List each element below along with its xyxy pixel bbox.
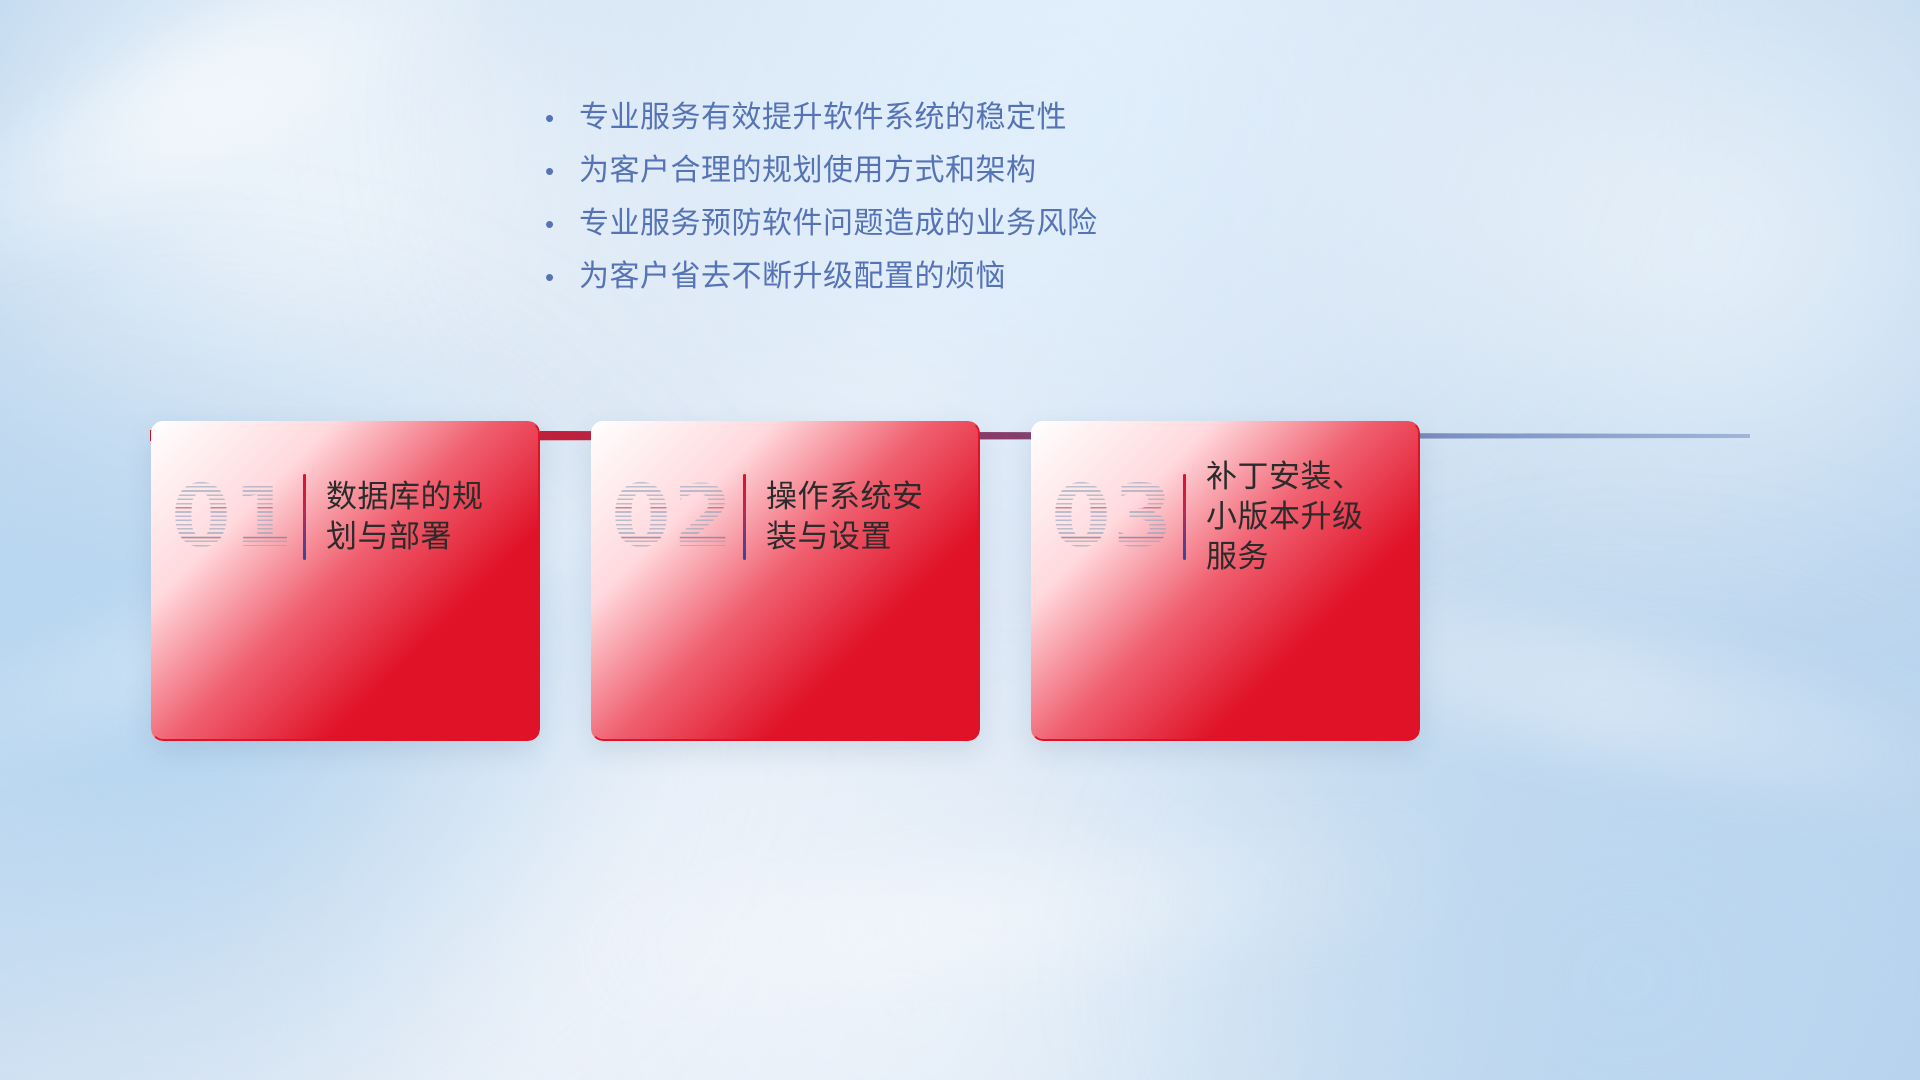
card-number-glyph-tint: 02: [613, 465, 733, 569]
list-item: • 为客户合理的规划使用方式和架构: [545, 145, 1445, 198]
list-item-label: 为客户合理的规划使用方式和架构: [579, 145, 1037, 189]
bullet-dot-icon: •: [545, 105, 579, 131]
card-number-glyph-tint: 01: [173, 465, 293, 569]
bullet-dot-icon: •: [545, 211, 579, 237]
service-card[interactable]: 03 03 补丁安装、小版本升级服务 评估版本升级及补丁安装的必要性，并提交实施…: [1031, 421, 1420, 741]
card-description: 操作系统的安装环境网络调查、安装标准及复核步骤、驱动程序的配置以及系统的设置等内…: [591, 579, 980, 698]
card-header: 03 03 补丁安装、小版本升级服务: [1031, 421, 1420, 579]
list-item-label: 专业服务有效提升软件系统的稳定性: [579, 92, 1067, 136]
benefits-bullet-list: • 专业服务有效提升软件系统的稳定性 • 为客户合理的规划使用方式和架构 • 专…: [545, 92, 1445, 304]
card-header: 01 01 数据库的规划与部署: [151, 421, 540, 579]
card-accent-bar: [303, 474, 306, 560]
card-number-watermark: 01 01: [173, 465, 293, 569]
bullet-dot-icon: •: [545, 158, 579, 184]
list-item-label: 专业服务预防软件问题造成的业务风险: [579, 198, 1098, 242]
service-card[interactable]: 01 01 数据库的规划与部署 协助客户规划数据库环境、数据库参数、数据库空间、…: [151, 421, 540, 741]
card-header: 02 02 操作系统安装与设置: [591, 421, 980, 579]
card-number-watermark: 03 03: [1053, 465, 1173, 569]
card-title: 数据库的规划与部署: [326, 477, 514, 558]
card-number-watermark: 02 02: [613, 465, 733, 569]
card-accent-bar: [743, 474, 746, 560]
list-item: • 专业服务预防软件问题造成的业务风险: [545, 198, 1445, 251]
card-title: 操作系统安装与设置: [766, 477, 954, 558]
card-description: 评估版本升级及补丁安装的必要性，并提交实施计划。: [1031, 579, 1420, 660]
service-card-list: 01 01 数据库的规划与部署 协助客户规划数据库环境、数据库参数、数据库空间、…: [151, 421, 1420, 741]
list-item-label: 为客户省去不断升级配置的烦恼: [579, 251, 1006, 295]
list-item: • 专业服务有效提升软件系统的稳定性: [545, 92, 1445, 145]
card-number-glyph-tint: 03: [1053, 465, 1173, 569]
service-card[interactable]: 02 02 操作系统安装与设置 操作系统的安装环境网络调查、安装标准及复核步骤、…: [591, 421, 980, 741]
card-description: 协助客户规划数据库环境、数据库参数、数据库空间、数据库对象等部署落地。: [151, 579, 540, 698]
list-item: • 为客户省去不断升级配置的烦恼: [545, 251, 1445, 304]
bullet-dot-icon: •: [545, 264, 579, 290]
card-accent-bar: [1183, 474, 1186, 560]
card-title: 补丁安装、小版本升级服务: [1206, 457, 1394, 578]
